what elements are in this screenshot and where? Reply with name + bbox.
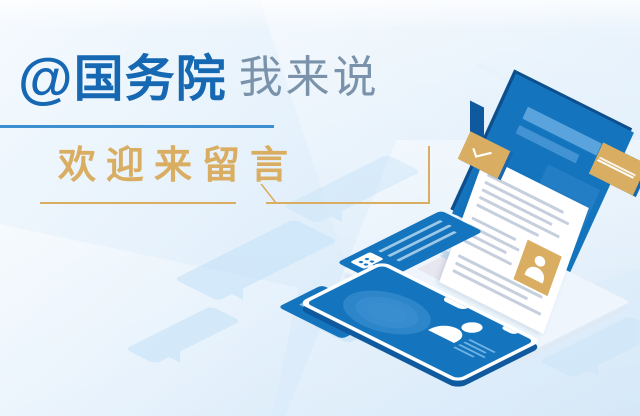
headline-block: @ 国务院 我来说 欢迎来留言 (18, 44, 448, 106)
background-chat-bubble-icon (125, 306, 241, 364)
govt-message-banner: @ 国务院 我来说 欢迎来留言 (0, 0, 640, 416)
at-symbol-icon: @ (18, 50, 72, 106)
gold-frame-line-left (40, 202, 236, 204)
gold-frame-line-vertical (428, 146, 430, 204)
headline-primary-line: @ 国务院 我来说 (18, 44, 448, 106)
gold-frame: 欢迎来留言 (0, 136, 448, 214)
gold-frame-line-right (266, 202, 430, 204)
headline-main-text: 国务院 (74, 52, 227, 106)
headline-sub-text: 我来说 (239, 52, 380, 106)
headline-gold-text: 欢迎来留言 (58, 142, 298, 188)
headline-divider-rule (0, 125, 274, 128)
